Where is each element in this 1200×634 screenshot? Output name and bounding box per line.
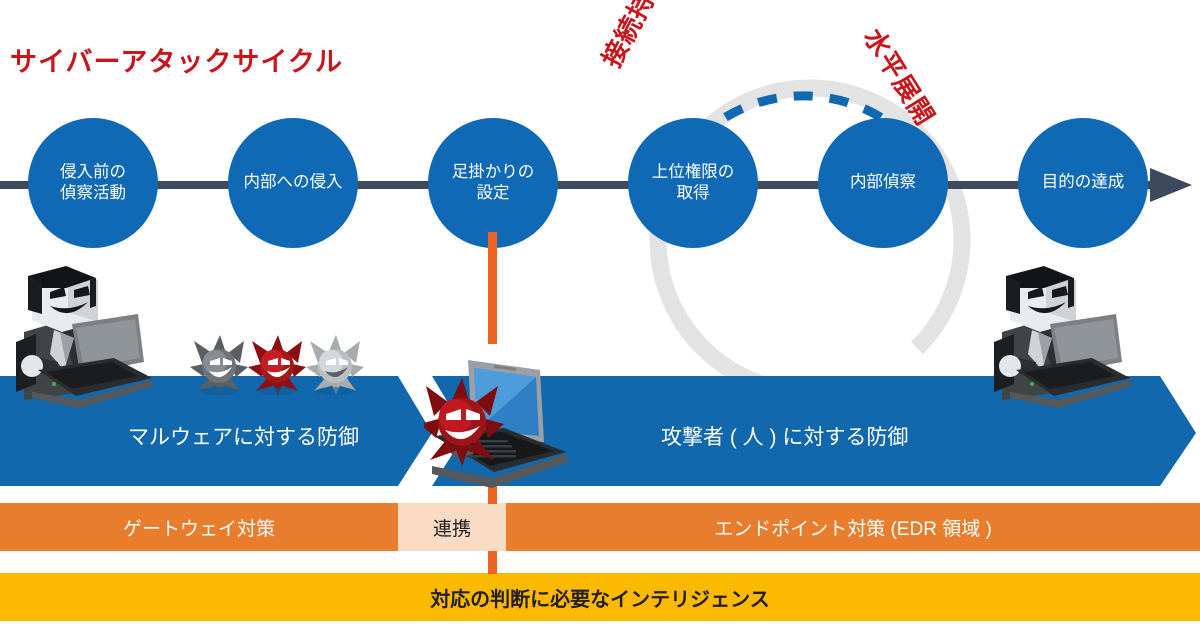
page-title: サイバーアタックサイクル (10, 40, 343, 79)
stage-node-4-line1: 上位権限の (648, 162, 739, 183)
infected-laptop-icon (424, 356, 574, 496)
stage-node-2-line1: 内部への侵入 (240, 172, 347, 193)
virus-gray-icon (190, 335, 248, 395)
defence-band-attacker-label: 攻撃者 ( 人 ) に対する防御 (661, 421, 908, 451)
stage-node-6[interactable]: 目的の達成 (1018, 118, 1148, 248)
stage-node-3-line1: 足掛かりの (448, 162, 539, 183)
virus-red-icon (248, 335, 306, 395)
arrow-right-icon (1150, 168, 1192, 202)
attack-timeline-axis (0, 181, 1160, 189)
hacker-with-laptop-icon (980, 266, 1155, 426)
diagram-canvas: サイバーアタックサイクル 接続持続 水平展開 侵入前の 偵察活動 内部への侵入 … (0, 0, 1200, 634)
stage-node-4[interactable]: 上位権限の 取得 (628, 118, 758, 248)
stage-node-2[interactable]: 内部への侵入 (228, 118, 358, 248)
measure-band-endpoint-label: エンドポイント対策 (EDR 領域 ) (714, 514, 992, 541)
stage-node-1-line1: 侵入前の (56, 162, 130, 183)
virus-silver-icon (306, 335, 364, 395)
stage-node-3-line2: 設定 (448, 183, 539, 204)
hacker-with-laptop-icon (2, 266, 177, 426)
virus-row (190, 333, 385, 413)
stage-node-5-line1: 内部偵察 (846, 172, 920, 193)
stage-node-3[interactable]: 足掛かりの 設定 (428, 118, 558, 248)
measure-band-link-label: 連携 (433, 514, 471, 541)
connector-line-lower (488, 551, 497, 574)
measure-band-link[interactable]: 連携 (398, 503, 506, 551)
measure-band-intelligence[interactable]: 対応の判断に必要なインテリジェンス (0, 573, 1200, 621)
measure-band-endpoint[interactable]: エンドポイント対策 (EDR 領域 ) (506, 503, 1200, 551)
measure-band-gateway[interactable]: ゲートウェイ対策 (0, 503, 398, 551)
stage-node-1[interactable]: 侵入前の 偵察活動 (28, 118, 158, 248)
measure-band-intelligence-label: 対応の判断に必要なインテリジェンス (430, 583, 770, 612)
stage-node-5[interactable]: 内部偵察 (818, 118, 948, 248)
stage-node-1-line2: 偵察活動 (56, 183, 130, 204)
stage-node-6-line1: 目的の達成 (1038, 172, 1129, 193)
measure-band-gateway-label: ゲートウェイ対策 (123, 514, 275, 541)
connector-line-upper (488, 232, 497, 344)
stage-node-4-line2: 取得 (648, 183, 739, 204)
